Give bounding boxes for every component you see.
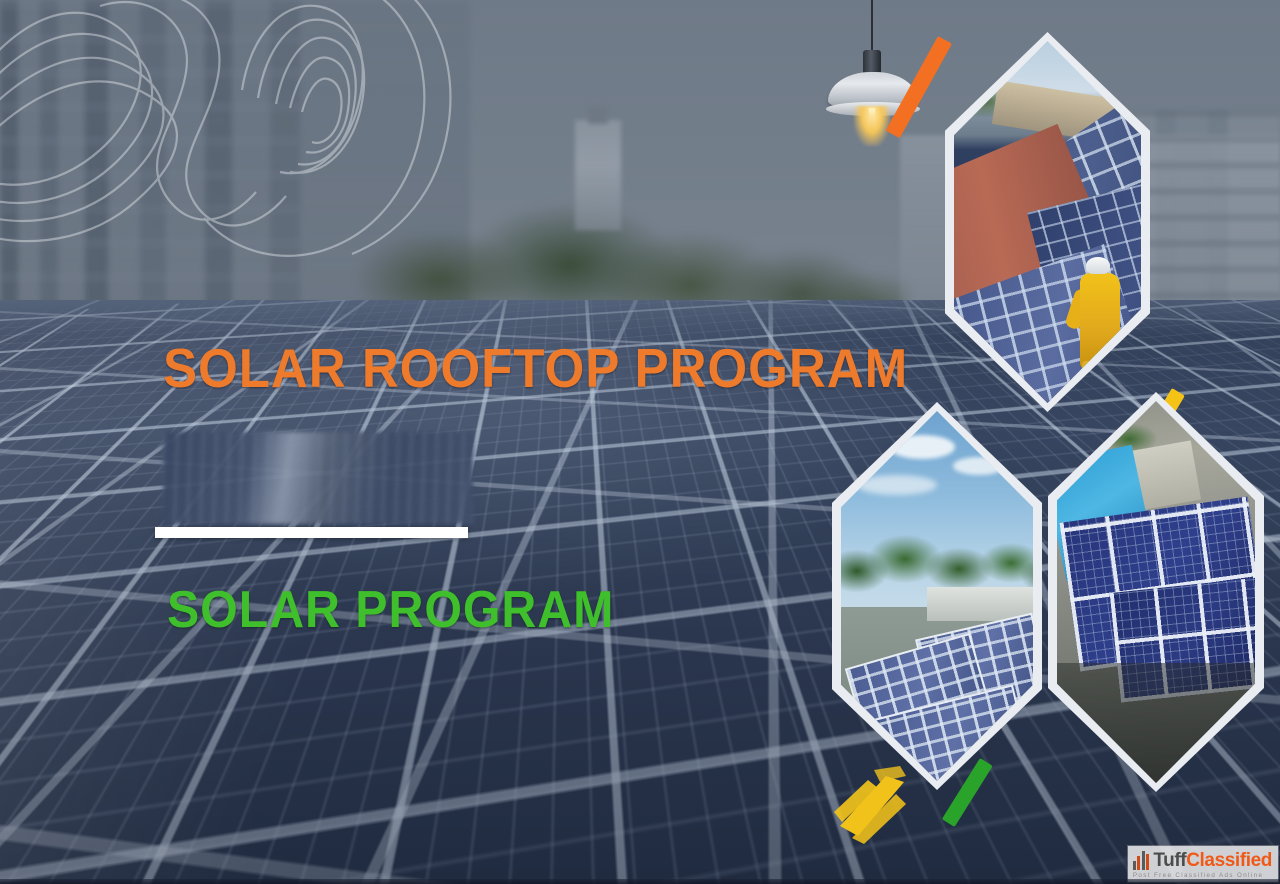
page-subtitle: SOLAR PROGRAM	[167, 580, 614, 640]
hex-photo-inner	[1057, 401, 1255, 783]
watermark-brand-first: Tuff	[1153, 851, 1186, 870]
watermark-tagline: Post Free Classified Ads Online	[1133, 872, 1263, 879]
accent-stroke-orange	[886, 36, 952, 138]
hex-photo-inner	[954, 41, 1141, 403]
watermark-brand-row: Tuff Classified	[1133, 850, 1272, 870]
photo-shaded-floor	[1057, 663, 1255, 783]
hex-photo-collage	[820, 10, 1280, 880]
photo-worker-legs	[1082, 361, 1120, 403]
hex-photo-rooftop-solar-array	[1048, 392, 1264, 792]
solar-rooftop-program-banner: SOLAR ROOFTOP PROGRAM SOLAR PROGRAM	[0, 0, 1280, 884]
accent-stroke-yellow-bottom-left	[834, 766, 930, 844]
water-tower	[575, 120, 621, 230]
masked-text-block	[163, 432, 473, 524]
photo-cloud	[857, 475, 937, 495]
bottom-edge-border	[0, 879, 1280, 884]
hex-photo-worker-installing-panels	[945, 32, 1150, 412]
watermark-brand-second: Classified	[1186, 851, 1272, 870]
bar-chart-icon	[1133, 850, 1150, 870]
topographic-contour-lines	[0, 0, 460, 320]
tuffclassified-watermark: Tuff Classified Post Free Classified Ads…	[1128, 846, 1278, 882]
photo-cloud	[953, 457, 1005, 475]
hex-photo-ground-mount-panels-sky	[832, 402, 1042, 790]
photo-cloud	[889, 435, 955, 459]
hex-photo-inner	[841, 411, 1033, 781]
title-divider	[155, 527, 468, 538]
photo-worker-helmet	[1086, 257, 1110, 274]
page-title: SOLAR ROOFTOP PROGRAM	[163, 336, 908, 400]
photo-worker-body	[1080, 273, 1120, 369]
